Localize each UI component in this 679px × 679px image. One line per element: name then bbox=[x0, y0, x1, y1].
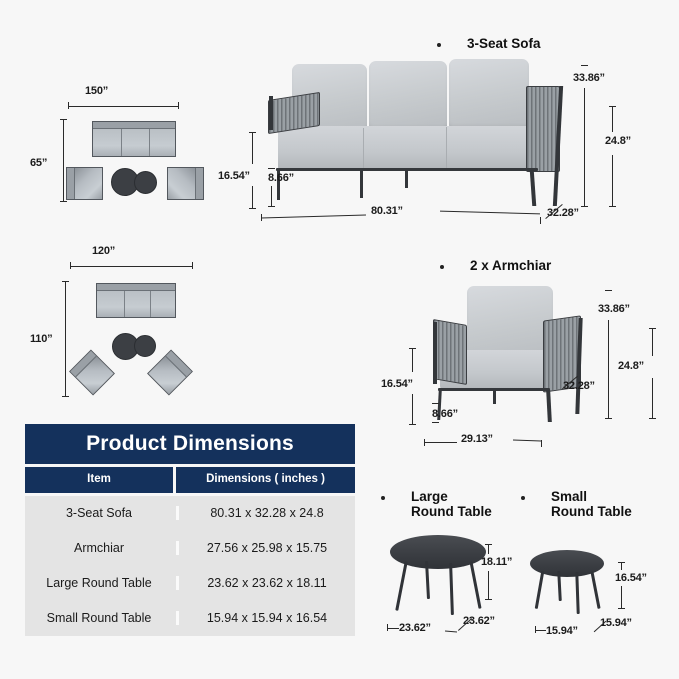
small-table-width-line bbox=[535, 630, 546, 631]
cell-item: Large Round Table bbox=[25, 576, 173, 590]
small-table-height-cap-top bbox=[618, 562, 625, 563]
small-table-height-cap-bottom bbox=[618, 608, 625, 609]
cell-item: Armchiar bbox=[25, 541, 173, 555]
table-body: 3-Seat Sofa 80.31 x 32.28 x 24.8 Armchia… bbox=[25, 496, 355, 636]
cell-dimensions: 27.56 x 25.98 x 15.75 bbox=[176, 541, 355, 555]
product-dimensions-table: Product Dimensions Item Dimensions ( inc… bbox=[25, 424, 355, 636]
cell-dimensions: 15.94 x 15.94 x 16.54 bbox=[176, 611, 355, 625]
table-header-dimensions: Dimensions ( inches ) bbox=[176, 467, 355, 493]
infographic-canvas: 150” 65” 120” 110” bbox=[0, 0, 679, 679]
small-table-width-label: 15.94” bbox=[546, 625, 578, 637]
table-title: Product Dimensions bbox=[25, 424, 355, 464]
small-table-depth-label: 15.94” bbox=[600, 617, 632, 629]
table-row: Armchiar 27.56 x 25.98 x 15.75 bbox=[25, 531, 355, 566]
table-header-item: Item bbox=[25, 467, 173, 493]
small-table-height-label: 16.54” bbox=[615, 572, 647, 584]
cell-dimensions: 80.31 x 32.28 x 24.8 bbox=[176, 506, 355, 520]
table-header-row: Item Dimensions ( inches ) bbox=[25, 467, 355, 493]
table-row: 3-Seat Sofa 80.31 x 32.28 x 24.8 bbox=[25, 496, 355, 531]
cell-item: 3-Seat Sofa bbox=[25, 506, 173, 520]
table-row: Large Round Table 23.62 x 23.62 x 18.11 bbox=[25, 566, 355, 601]
table-row: Small Round Table 15.94 x 15.94 x 16.54 bbox=[25, 601, 355, 636]
cell-dimensions: 23.62 x 23.62 x 18.11 bbox=[176, 576, 355, 590]
small-table-height-line-2 bbox=[621, 586, 622, 608]
small-table-height-line bbox=[621, 562, 622, 570]
small-table-width-cap-left bbox=[535, 626, 536, 633]
cell-item: Small Round Table bbox=[25, 611, 173, 625]
